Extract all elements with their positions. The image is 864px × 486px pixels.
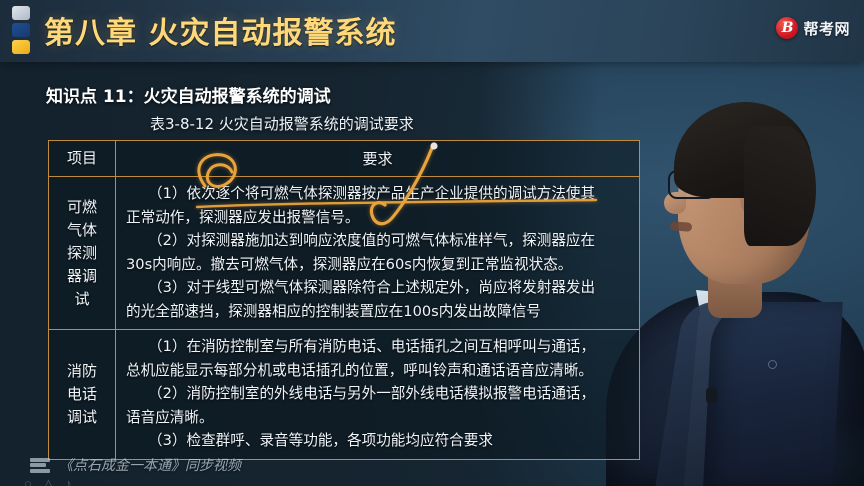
- footer-glyphs: ○ △ ♪: [24, 476, 76, 486]
- video-frame: 第八章 火灾自动报警系统 B 帮考网 知识点 11：火灾自动报警系统的调试 表3…: [0, 0, 864, 486]
- book-lines-icon: [30, 458, 50, 473]
- req-line: （2）对探测器施加达到响应浓度值的可燃气体标准样气，探测器应在: [126, 229, 631, 253]
- presenter-hair-back: [744, 126, 816, 246]
- req-line: （2）消防控制室的外线电话与另外一部外线电话模拟报警电话通话，: [126, 382, 631, 406]
- square-yellow-icon: [12, 40, 30, 54]
- presenter: [612, 96, 864, 486]
- req-line: 总机应能显示每部分机或电话插孔的位置，呼叫铃声和通话语音应清晰。: [126, 359, 631, 383]
- table-header-row: 项目 要求: [49, 141, 640, 177]
- footer-text: 《点石成金一本通》同步视频: [59, 455, 241, 475]
- req-line: 语音应清晰。: [126, 406, 631, 430]
- req-line: 正常动作，探测器应发出报警信号。: [126, 206, 631, 230]
- lapel-microphone: [706, 388, 717, 403]
- req-line: （1）在消防控制室与所有消防电话、电话插孔之间互相呼叫与通话，: [126, 335, 631, 359]
- req-line: （1）依次逐个将可燃气体探测器按产品生产企业提供的调试方法使其: [126, 182, 631, 206]
- table-caption: 表3-8-12 火灾自动报警系统的调试要求: [150, 113, 414, 134]
- req-line: （3）检查群呼、录音等功能，各项功能均应符合要求: [126, 429, 631, 453]
- square-blue-icon: [12, 23, 30, 37]
- table-row: 消防电话调试 （1）在消防控制室与所有消防电话、电话插孔之间互相呼叫与通话， 总…: [49, 330, 640, 460]
- row-requirements-2: （1）在消防控制室与所有消防电话、电话插孔之间互相呼叫与通话， 总机应能显示每部…: [116, 330, 640, 460]
- row-requirements-1: （1）依次逐个将可燃气体探测器按产品生产企业提供的调试方法使其 正常动作，探测器…: [116, 177, 640, 330]
- header-squares-decoration: [10, 6, 32, 56]
- debug-requirements-table: 项目 要求 可燃气体探测器调试 （1）依次逐个将可燃气体探测器按产品生产企业提供…: [48, 140, 640, 460]
- footer-watermark: 《点石成金一本通》同步视频: [30, 455, 241, 475]
- brand-logo: B 帮考网: [776, 17, 850, 39]
- table-header-requirement: 要求: [116, 141, 640, 177]
- logo-b-icon: B: [776, 17, 798, 39]
- req-line: （3）对于线型可燃气体探测器除符合上述规定外，尚应将发射器发出: [126, 276, 631, 300]
- logo-text: 帮考网: [803, 18, 850, 39]
- table-row: 可燃气体探测器调试 （1）依次逐个将可燃气体探测器按产品生产企业提供的调试方法使…: [49, 177, 640, 330]
- table-header-item: 项目: [49, 141, 116, 177]
- chapter-title: 第八章 火灾自动报警系统: [44, 8, 396, 52]
- square-light-icon: [12, 6, 30, 20]
- knowledge-point-heading: 知识点 11：火灾自动报警系统的调试: [46, 82, 331, 107]
- presenter-jacket-button: [768, 360, 777, 369]
- req-line: 的光全部速挡，探测器相应的控制装置应在100s内发出故障信号: [126, 300, 631, 324]
- req-line: 30s内响应。撤去可燃气体，探测器应在60s内恢复到正常监视状态。: [126, 253, 631, 277]
- row-item-label-1: 可燃气体探测器调试: [49, 177, 116, 330]
- slide-header-bar: 第八章 火灾自动报警系统 B 帮考网: [0, 0, 864, 62]
- row-item-label-2: 消防电话调试: [49, 330, 116, 460]
- presenter-jacket-front: [703, 302, 843, 486]
- presenter-mouth: [670, 221, 693, 232]
